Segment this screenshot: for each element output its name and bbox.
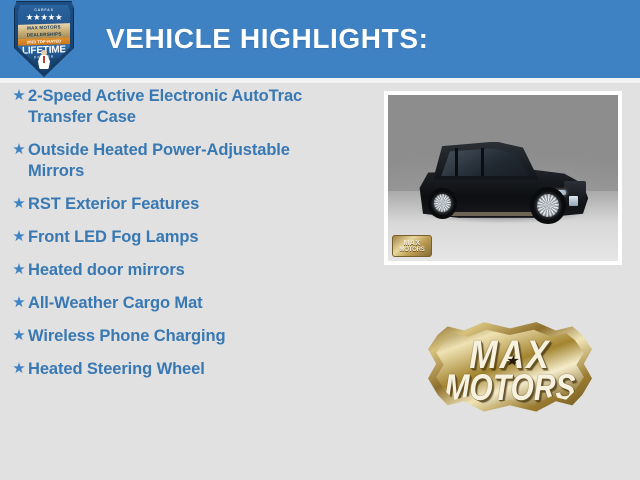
watermark-line-1: MAX xyxy=(403,240,420,247)
list-item: ★ Heated Steering Wheel xyxy=(0,359,360,380)
page-title: VEHICLE HIGHLIGHTS: xyxy=(106,25,429,53)
list-item-label: Outside Heated Power-Adjustable Mirrors xyxy=(28,140,304,182)
shield-icon: CARFAX ★★★★★ MAX MOTORS DEALERSHIPS 2023… xyxy=(14,1,74,77)
figure-tie xyxy=(43,56,45,63)
suv-headlight-lower xyxy=(569,196,578,206)
watermark-line-2: MOTORS xyxy=(399,247,424,253)
list-item: ★ All-Weather Cargo Mat xyxy=(0,293,360,314)
list-item: ★ Wireless Phone Charging xyxy=(0,326,360,347)
list-item-label: Heated door mirrors xyxy=(28,260,185,281)
star-bullet-icon: ★ xyxy=(10,86,28,106)
suv-illustration xyxy=(418,140,588,223)
list-item: ★ Front LED Fog Lamps xyxy=(0,227,360,248)
star-bullet-icon: ★ xyxy=(10,194,28,214)
list-item-label: All-Weather Cargo Mat xyxy=(28,293,203,314)
photo-watermark-logo: MAX MOTORS xyxy=(392,235,432,257)
star-bullet-icon: ★ xyxy=(10,359,28,379)
list-item-label: Front LED Fog Lamps xyxy=(28,227,198,248)
suv-front-wheel xyxy=(530,187,566,225)
list-item: ★ Outside Heated Power-Adjustable Mirror… xyxy=(0,140,360,182)
star-bullet-icon: ★ xyxy=(10,293,28,313)
suv-pillar xyxy=(481,148,484,176)
list-item-label: 2-Speed Active Electronic AutoTrac Trans… xyxy=(28,86,304,128)
list-item: ★ RST Exterior Features xyxy=(0,194,360,215)
badge-inner: CARFAX ★★★★★ MAX MOTORS DEALERSHIPS 2023… xyxy=(18,5,70,73)
vehicle-photo-canvas: MAX MOTORS xyxy=(388,95,618,261)
suv-rear-wheel xyxy=(428,188,457,219)
star-bullet-icon: ★ xyxy=(10,227,28,247)
max-motors-logo[interactable]: MAX ★ MOTORS xyxy=(428,318,592,422)
vehicle-photo[interactable]: MAX MOTORS xyxy=(384,91,622,265)
badge-dealership-band: MAX MOTORS DEALERSHIPS xyxy=(18,23,70,39)
star-bullet-icon: ★ xyxy=(10,260,28,280)
vehicle-highlights-list: ★ 2-Speed Active Electronic AutoTrac Tra… xyxy=(0,86,360,392)
list-item: ★ 2-Speed Active Electronic AutoTrac Tra… xyxy=(0,86,360,128)
star-bullet-icon: ★ xyxy=(10,140,28,160)
salesperson-icon xyxy=(37,50,51,69)
list-item: ★ Heated door mirrors xyxy=(0,260,360,281)
five-stars-icon: ★★★★★ xyxy=(18,13,70,22)
list-item-label: Wireless Phone Charging xyxy=(28,326,225,347)
header-divider xyxy=(0,78,640,83)
list-item-label: Heated Steering Wheel xyxy=(28,359,205,380)
list-item-label: RST Exterior Features xyxy=(28,194,199,215)
carfax-top-rated-dealer-badge: CARFAX ★★★★★ MAX MOTORS DEALERSHIPS 2023… xyxy=(14,1,74,77)
suv-pillar xyxy=(455,148,458,176)
star-bullet-icon: ★ xyxy=(10,326,28,346)
page-header: CARFAX ★★★★★ MAX MOTORS DEALERSHIPS 2023… xyxy=(0,0,640,78)
